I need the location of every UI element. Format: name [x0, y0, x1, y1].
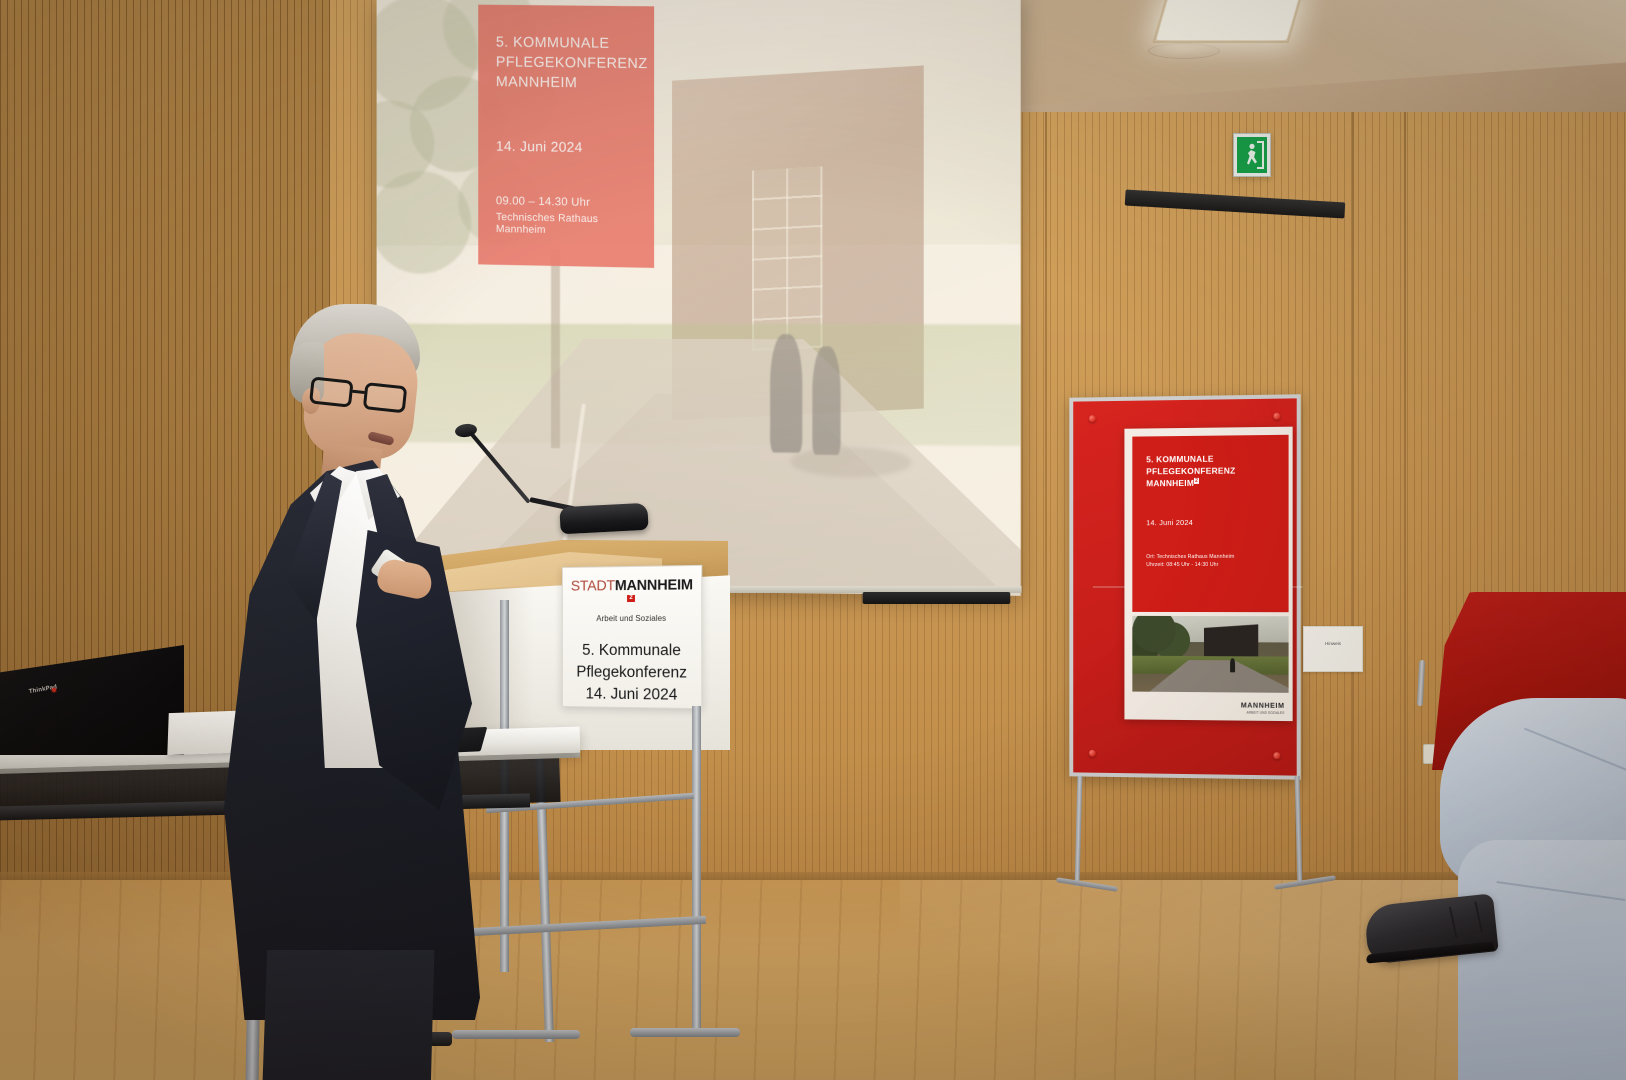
slide-headline-2: PFLEGEKONFERENZ: [496, 54, 648, 72]
lectern-sign-title: 5. Kommunale Pflegekonferenz 14. Juni 20…: [571, 640, 693, 707]
microphone-base: [559, 503, 648, 535]
pin-top-left: [1089, 415, 1096, 422]
speaker-trousers: [252, 950, 442, 1080]
poster-superscript: 2: [1194, 478, 1199, 484]
poster-date: 14. Juni 2024: [1146, 517, 1276, 527]
slide-headline-1: 5. KOMMUNALE: [496, 35, 610, 52]
slide-date: 14. Juni 2024: [496, 138, 638, 156]
slide-pole: [551, 249, 560, 448]
projection-screen-mount: [863, 592, 1011, 604]
lectern-sign-title-2: Pflegekonferenz: [576, 664, 687, 682]
ceiling-light-panel: [1156, 0, 1299, 40]
lectern-sign: STADTMANNHEIM2 Arbeit und Soziales 5. Ko…: [562, 565, 702, 709]
slide-time: 09.00 – 14.30 Uhr: [496, 195, 638, 209]
poster-logo-block: MANNHEIM ARBEIT UND SOZIALES: [1241, 703, 1285, 715]
lectern-sign-title-1: 5. Kommunale: [582, 642, 681, 659]
speaker-glasses-lens-left: [309, 376, 354, 407]
pin-bottom-left: [1089, 750, 1096, 757]
poster-headline-block: 5. KOMMUNALE PFLEGEKONFERENZ MANNHEIM2 1…: [1132, 435, 1288, 612]
slide-location: Technisches Rathaus Mannheim: [496, 211, 638, 237]
pinboard-stand: [1060, 776, 1310, 894]
thinkpad-logo-dot-icon: [52, 688, 56, 692]
wall-panel-seam: [1352, 0, 1354, 960]
conference-poster: 5. KOMMUNALE PFLEGEKONFERENZ MANNHEIM2 1…: [1124, 427, 1292, 721]
slide-headline-3: MANNHEIM: [496, 74, 577, 91]
speaker-at-lectern: [218, 300, 518, 1080]
conference-photo-scene: 5. KOMMUNALE PFLEGEKONFERENZ MANNHEIM 14…: [0, 0, 1626, 1080]
poster-time: Uhrzeit: 08:45 Uhr - 14:30 Uhr: [1146, 562, 1218, 568]
seated-attendee: [1400, 690, 1626, 1080]
poster-logo-text: MANNHEIM: [1241, 703, 1285, 710]
poster-photo-figure: [1230, 658, 1235, 672]
pin-bottom-right: [1273, 752, 1280, 759]
pinboard-leg-left: [1075, 776, 1083, 886]
poster-place: Ort: Technisches Rathaus Mannheim: [1146, 554, 1234, 560]
exit-sign-green-field: [1237, 137, 1267, 173]
lectern-sign-title-3: 14. Juni 2024: [585, 685, 677, 703]
lectern-foot-right: [630, 1028, 740, 1037]
logo-stadt: STADT: [571, 578, 615, 594]
pinboard-foot-left: [1056, 877, 1118, 892]
exit-sign: [1233, 133, 1271, 177]
poster-headline-3: MANNHEIM: [1146, 478, 1194, 488]
speaker-glasses-lens-right: [363, 382, 408, 413]
poster-photo: [1132, 616, 1288, 693]
slide-title-block: 5. KOMMUNALE PFLEGEKONFERENZ MANNHEIM 14…: [478, 5, 654, 268]
slide-figure-left: [770, 334, 802, 453]
poster-logo-subtext: ARBEIT UND SOZIALES: [1241, 711, 1285, 715]
lectern-tube-right: [692, 706, 701, 1036]
poster-headline-2: PFLEGEKONFERENZ: [1146, 465, 1235, 476]
logo-superscript: 2: [627, 595, 634, 602]
attendee-lower-leg: [1458, 840, 1626, 1080]
pinboard-leg-right: [1295, 776, 1303, 884]
poster-board: 5. KOMMUNALE PFLEGEKONFERENZ MANNHEIM2 1…: [1060, 396, 1310, 896]
lectern-sign-department: Arbeit und Soziales: [571, 614, 693, 624]
stadt-mannheim-logo: STADTMANNHEIM2: [571, 578, 693, 608]
wall-notice: Hinweis: [1303, 626, 1363, 672]
red-pinboard: 5. KOMMUNALE PFLEGEKONFERENZ MANNHEIM2 1…: [1069, 394, 1300, 779]
wall-panel-seam: [1045, 0, 1047, 960]
smoke-detector-icon: [1148, 43, 1220, 59]
poster-headline-1: 5. KOMMUNALE: [1146, 454, 1213, 465]
speaker-glasses-bridge: [352, 390, 364, 394]
slide-figure-right: [812, 346, 840, 455]
logo-mannheim: MANNHEIM: [615, 577, 693, 594]
exit-door-icon: [1257, 141, 1264, 169]
pin-top-right: [1273, 413, 1280, 420]
